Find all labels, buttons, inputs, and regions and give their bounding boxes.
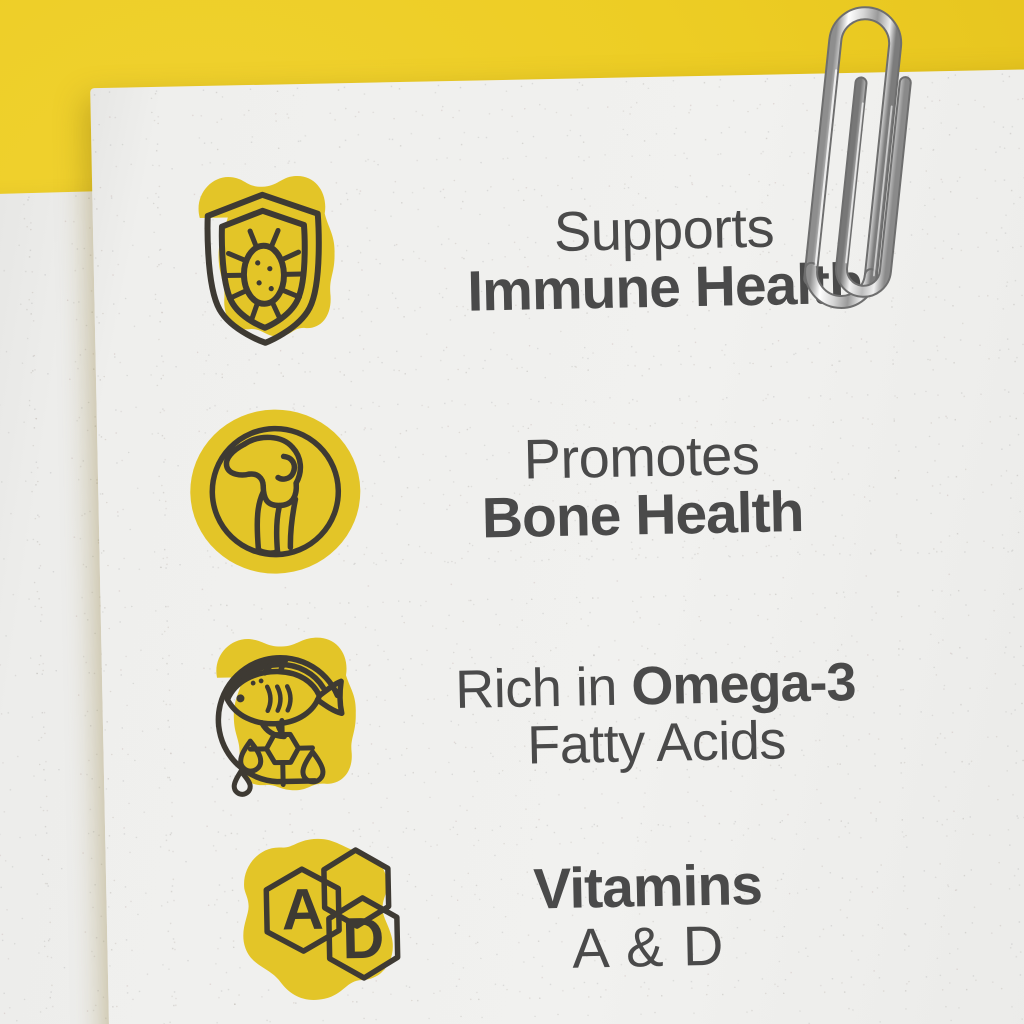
- hexagon-letter-a: A: [281, 877, 324, 943]
- shield-germ-icon: [167, 163, 361, 372]
- poster-stage: Supports Immune Health: [0, 0, 1024, 1024]
- benefit-line-2: A & D: [534, 915, 764, 978]
- benefit-line-2: Fatty Acids: [456, 710, 857, 774]
- benefit-line-1: Rich in Omega-3: [455, 654, 856, 718]
- benefit-row-vitamins: A D Vitamins A & D: [225, 820, 764, 1021]
- benefit-text-vitamins: Vitamins A & D: [533, 856, 764, 978]
- benefit-row-bone: Promotes Bone Health: [181, 389, 804, 591]
- fish-omega-molecule-icon: [186, 623, 380, 822]
- hexagon-vitamins-ad-icon: A D: [225, 827, 424, 1021]
- benefit-row-immune: Supports Immune Health: [167, 153, 865, 372]
- hexagon-letter-d: D: [342, 906, 385, 972]
- benefit-row-omega: Rich in Omega-3 Fatty Acids: [186, 613, 858, 821]
- benefit-line-1-emphasis: Omega-3: [631, 652, 856, 716]
- knee-joint-bone-icon: [181, 398, 375, 592]
- benefit-line-1-prefix: Rich in: [455, 657, 632, 721]
- benefit-line-1: Vitamins: [533, 856, 763, 920]
- benefit-text-bone: Promotes Bone Health: [480, 425, 804, 549]
- benefit-text-omega: Rich in Omega-3 Fatty Acids: [455, 654, 857, 774]
- benefit-line-2: Bone Health: [481, 483, 804, 549]
- benefit-line-1: Promotes: [480, 425, 803, 490]
- paperclip-icon: [786, 0, 986, 316]
